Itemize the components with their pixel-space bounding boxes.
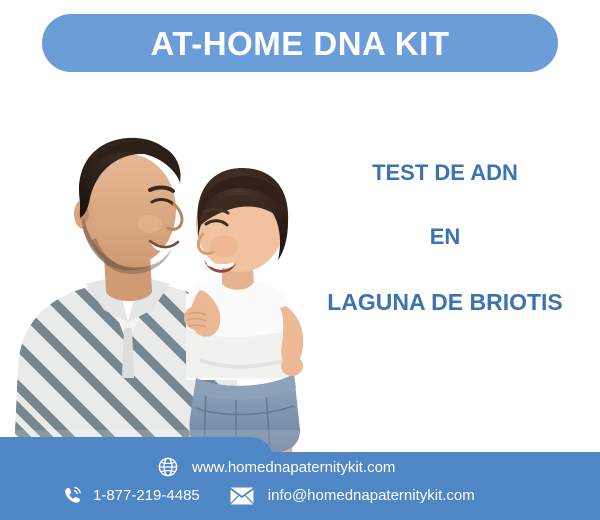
family-photo-illustration (0, 78, 340, 453)
poster-canvas: AT-HOME DNA KIT (0, 0, 600, 520)
header-banner: AT-HOME DNA KIT (42, 14, 558, 72)
family-photo (0, 78, 340, 453)
headline-line-location: LAGUNA DE BRIOTIS (300, 289, 590, 317)
headline-line-preposition: EN (300, 224, 590, 250)
footer-website-label: www.homednapaternitykit.com (192, 460, 395, 475)
footer-contact-row: 1-877-219-4485 info@homednapaternitykit.… (62, 485, 475, 506)
headline-block: TEST DE ADN EN LAGUNA DE BRIOTIS (300, 160, 590, 316)
phone-icon (62, 485, 83, 506)
globe-icon (158, 457, 178, 477)
headline-line-service: TEST DE ADN (300, 160, 590, 186)
footer-website-row[interactable]: www.homednapaternitykit.com (158, 457, 395, 477)
footer-contact-bar: www.homednapaternitykit.com 1-877-219-44… (0, 437, 600, 520)
footer-phone-label[interactable]: 1-877-219-4485 (93, 488, 200, 503)
header-title: AT-HOME DNA KIT (151, 27, 450, 60)
footer-email-label[interactable]: info@homednapaternitykit.com (268, 488, 475, 503)
envelope-icon (230, 487, 254, 505)
